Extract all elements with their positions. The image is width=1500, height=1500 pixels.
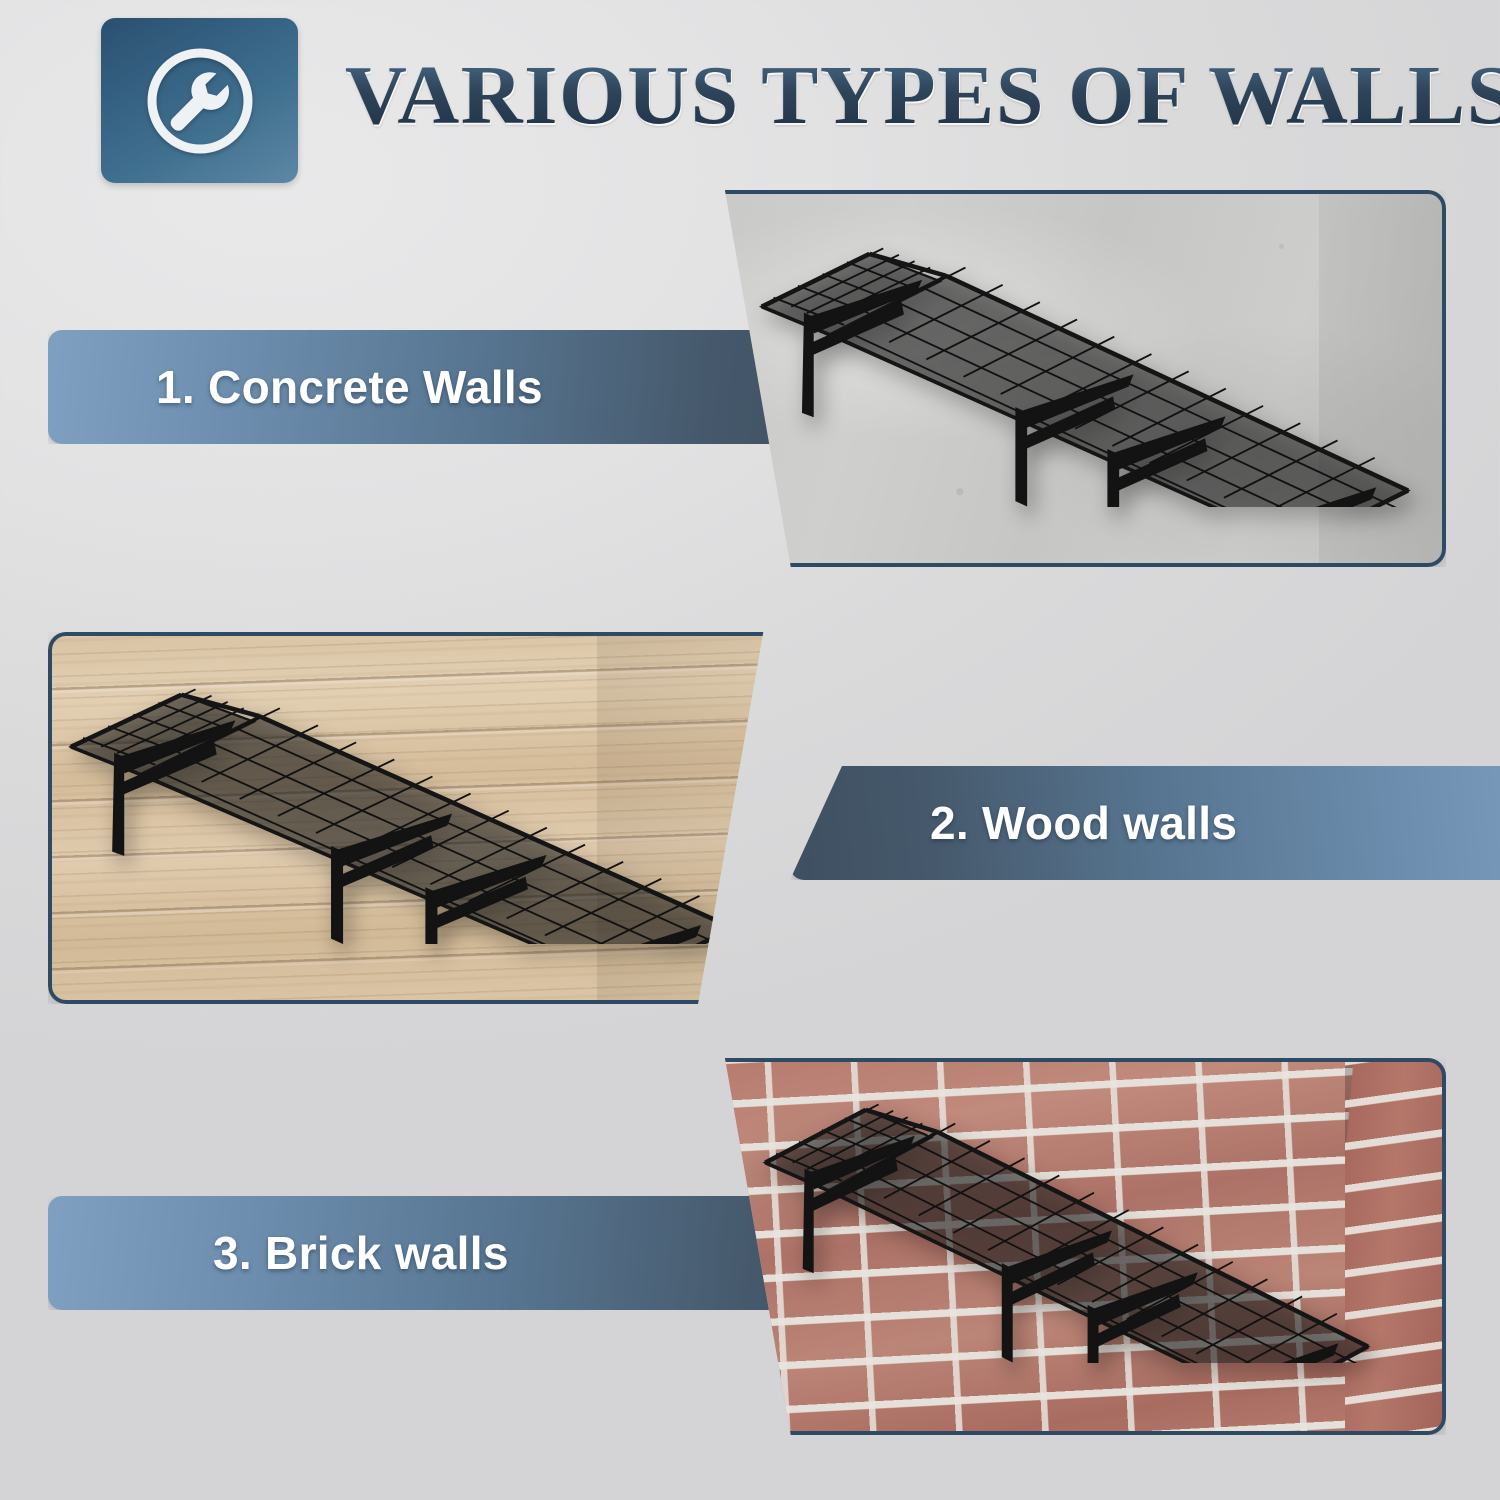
page-title-text: Various Types of Walls (345, 54, 1500, 138)
photo-panel-wood[interactable] (48, 632, 790, 1004)
section-label-text: 2. Wood walls (930, 796, 1237, 850)
wire-shelf-illustration (758, 1099, 1379, 1363)
section-label-text: 1. Concrete Walls (156, 360, 543, 414)
section-label-text: 3. Brick walls (213, 1226, 509, 1280)
wire-shelf-illustration (63, 684, 746, 944)
wire-shelf-illustration (754, 243, 1420, 507)
header: Various Types of Walls (0, 0, 1500, 195)
photo-panel-brick[interactable] (698, 1058, 1446, 1435)
section-label-concrete[interactable]: 1. Concrete Walls (48, 330, 846, 444)
photo-panel-concrete[interactable] (698, 190, 1446, 567)
wrench-in-circle-icon (142, 43, 258, 159)
page-title: Various Types of Walls (345, 46, 1435, 146)
wrench-badge (101, 18, 298, 183)
section-label-wood[interactable]: 2. Wood walls (790, 766, 1500, 880)
